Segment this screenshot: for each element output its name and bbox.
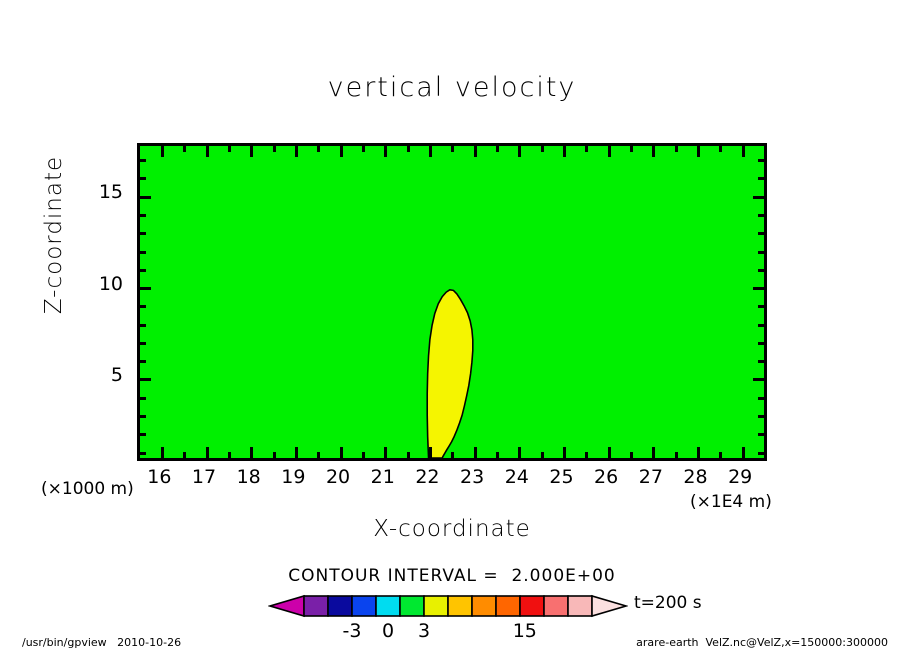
axis-tick xyxy=(758,269,764,272)
axis-tick xyxy=(161,146,164,157)
axis-tick xyxy=(140,452,146,455)
colorbar-segment xyxy=(304,596,328,616)
x-tick-label: 29 xyxy=(710,466,770,488)
axis-tick xyxy=(753,287,764,290)
axis-tick xyxy=(183,452,186,458)
axis-tick xyxy=(758,324,764,327)
axis-tick xyxy=(250,146,253,157)
axis-tick xyxy=(764,452,767,458)
axis-tick xyxy=(758,159,764,162)
axis-tick xyxy=(317,146,320,152)
axis-tick xyxy=(758,360,764,363)
axis-tick xyxy=(384,447,387,458)
axis-tick xyxy=(630,146,633,152)
axis-tick xyxy=(758,232,764,235)
axis-tick xyxy=(140,415,146,418)
axis-tick xyxy=(758,177,764,180)
colorbar xyxy=(268,591,628,621)
axis-tick xyxy=(250,447,253,458)
x-axis-unit-label: (×1E4 m) xyxy=(690,492,772,512)
contour-interval-label: CONTOUR INTERVAL = 2.000E+00 xyxy=(0,566,904,586)
axis-tick xyxy=(451,452,454,458)
axis-tick xyxy=(317,452,320,458)
axis-tick xyxy=(758,251,764,254)
axis-tick xyxy=(140,305,146,308)
colorbar-segment xyxy=(496,596,520,616)
axis-tick xyxy=(140,342,146,345)
axis-tick xyxy=(608,447,611,458)
axis-tick xyxy=(407,146,410,152)
colorbar-segment xyxy=(352,596,376,616)
axis-tick xyxy=(608,146,611,157)
axis-tick xyxy=(429,447,432,458)
axis-tick xyxy=(719,452,722,458)
colorbar-segment xyxy=(376,596,400,616)
axis-tick xyxy=(563,447,566,458)
colorbar-segment xyxy=(472,596,496,616)
axis-tick xyxy=(758,305,764,308)
x-axis-title: X-coordinate xyxy=(137,516,767,542)
axis-tick xyxy=(384,146,387,157)
colorbar-segment xyxy=(328,596,352,616)
axis-tick xyxy=(407,452,410,458)
axis-tick xyxy=(273,146,276,152)
axis-tick xyxy=(496,146,499,152)
axis-tick xyxy=(295,146,298,157)
axis-tick xyxy=(758,214,764,217)
axis-tick xyxy=(429,146,432,157)
axis-tick xyxy=(140,433,146,436)
axis-tick xyxy=(140,232,146,235)
colorbar-segment xyxy=(520,596,544,616)
axis-tick xyxy=(183,146,186,152)
axis-tick xyxy=(541,452,544,458)
axis-tick xyxy=(652,447,655,458)
axis-tick xyxy=(758,452,764,455)
axis-tick xyxy=(758,415,764,418)
axis-tick xyxy=(758,342,764,345)
axis-tick xyxy=(140,324,146,327)
colorbar-right-arrow xyxy=(592,596,626,616)
axis-tick xyxy=(340,447,343,458)
axis-tick xyxy=(697,146,700,157)
axis-tick xyxy=(140,397,146,400)
axis-tick xyxy=(742,146,745,157)
axis-tick xyxy=(140,159,146,162)
axis-tick xyxy=(140,196,151,199)
axis-tick xyxy=(140,360,146,363)
axis-tick xyxy=(273,452,276,458)
axis-tick xyxy=(675,452,678,458)
colorbar-segment xyxy=(448,596,472,616)
colorbar-left-arrow xyxy=(270,596,304,616)
footer-command-info: /usr/bin/gpview 2010-10-26 xyxy=(22,636,181,649)
axis-tick xyxy=(206,447,209,458)
axis-tick xyxy=(541,146,544,152)
axis-tick xyxy=(697,447,700,458)
axis-tick xyxy=(753,378,764,381)
contour-canvas xyxy=(140,146,764,458)
colorbar-segment xyxy=(424,596,448,616)
y-tick-label: 15 xyxy=(85,181,123,203)
footer-dataset-info: arare-earth VelZ.nc@VelZ,x=150000:300000 xyxy=(636,636,888,649)
colorbar-segment xyxy=(568,596,592,616)
plot-page: vertical velocity 1617181920212223242526… xyxy=(0,0,904,654)
axis-tick xyxy=(753,196,764,199)
time-annotation: t=200 s xyxy=(634,593,702,613)
axis-tick xyxy=(719,146,722,152)
axis-tick xyxy=(518,146,521,157)
axis-tick xyxy=(140,251,146,254)
colorbar-svg xyxy=(268,591,628,621)
axis-tick xyxy=(228,452,231,458)
colorbar-segment xyxy=(544,596,568,616)
axis-tick xyxy=(362,452,365,458)
axis-tick xyxy=(764,146,767,152)
axis-tick xyxy=(362,146,365,152)
axis-tick xyxy=(161,447,164,458)
y-axis-title: Z-coordinate xyxy=(41,135,67,335)
colorbar-segment xyxy=(400,596,424,616)
axis-tick xyxy=(140,177,146,180)
axis-tick xyxy=(140,269,146,272)
z-axis-unit-label: (×1000 m) xyxy=(41,479,134,499)
axis-tick xyxy=(206,146,209,157)
axis-tick xyxy=(295,447,298,458)
axis-tick xyxy=(340,146,343,157)
colorbar-tick-label: 3 xyxy=(394,620,454,642)
axis-tick xyxy=(451,146,454,152)
axis-tick xyxy=(140,214,146,217)
axis-tick xyxy=(630,452,633,458)
axis-tick xyxy=(652,146,655,157)
axis-tick xyxy=(563,146,566,157)
axis-tick xyxy=(585,146,588,152)
page-title: vertical velocity xyxy=(0,72,904,103)
y-tick-label: 10 xyxy=(85,273,123,295)
axis-tick xyxy=(742,447,745,458)
axis-tick xyxy=(585,452,588,458)
axis-tick xyxy=(675,146,678,152)
axis-tick xyxy=(474,146,477,157)
axis-tick xyxy=(496,452,499,458)
axis-tick xyxy=(758,397,764,400)
axis-tick xyxy=(758,433,764,436)
axis-tick xyxy=(140,378,151,381)
y-tick-label: 5 xyxy=(85,364,123,386)
colorbar-tick-label: 15 xyxy=(495,620,555,642)
axis-tick xyxy=(474,447,477,458)
axis-tick xyxy=(140,287,151,290)
plot-area xyxy=(137,143,767,461)
axis-tick xyxy=(228,146,231,152)
axis-tick xyxy=(518,447,521,458)
